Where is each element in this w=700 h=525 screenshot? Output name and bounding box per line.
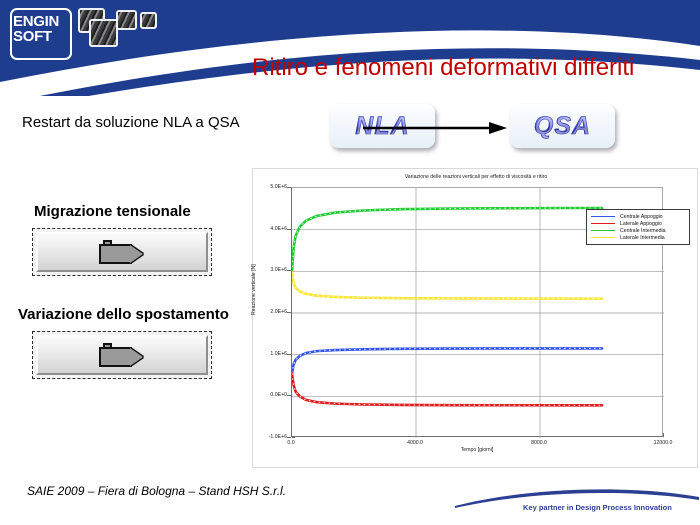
- chart-legend-item: Laterale Intermedia: [591, 234, 685, 241]
- chart-legend: Centrale AppoggioLaterale AppoggioCentra…: [586, 209, 690, 245]
- slide-canvas: ENGIN SOFT Ritiro e fenomeni deformativi…: [0, 0, 700, 525]
- chart-x-tick: 12000.0: [654, 440, 673, 446]
- restart-description: Restart da soluzione NLA a QSA: [22, 113, 242, 133]
- chart-y-tick: -1.0E+6: [253, 434, 287, 440]
- chart-legend-swatch: [591, 216, 615, 217]
- chart-title: Variazione delle reazioni verticali per …: [253, 174, 699, 180]
- movie-camera-icon: [99, 343, 145, 367]
- chart-legend-swatch: [591, 223, 615, 224]
- logo-line-1: ENGIN: [13, 14, 71, 29]
- qsa-badge: QSA: [510, 104, 615, 148]
- thumbnail-image-2: [89, 19, 118, 47]
- thumbnail-image-3: [116, 10, 137, 30]
- video-button-variazione-spostamento[interactable]: [32, 331, 212, 379]
- slide-title: Ritiro e fenomeni deformativi differiti: [252, 54, 700, 82]
- chart-legend-item: Laterale Appoggio: [591, 220, 685, 227]
- chart-y-tick: 1.0E+6: [253, 351, 287, 357]
- movie-camera-icon: [99, 240, 145, 264]
- chart-x-tick: 8000.0: [531, 440, 547, 446]
- chart-legend-label: Centrale Appoggio: [620, 214, 663, 220]
- logo-thumbnail-strip: [76, 6, 166, 58]
- caption-migrazione-tensionale: Migrazione tensionale: [34, 203, 191, 220]
- chart-y-tick: 5.0E+6: [253, 184, 287, 190]
- chart-y-tick: 0.0E+0: [253, 392, 287, 398]
- chart-legend-swatch: [591, 237, 615, 238]
- slide-header: ENGIN SOFT Ritiro e fenomeni deformativi…: [0, 0, 700, 96]
- reaction-chart: Variazione delle reazioni verticali per …: [252, 168, 698, 468]
- slide-footer: SAIE 2009 – Fiera di Bologna – Stand HSH…: [27, 484, 286, 498]
- chart-legend-label: Centrale Intermedia: [620, 228, 666, 234]
- chart-legend-label: Laterale Intermedia: [620, 235, 665, 241]
- right-arrow-icon: [359, 118, 509, 138]
- qsa-label: QSA: [534, 112, 591, 141]
- video-button-migrazione-tensionale[interactable]: [32, 228, 212, 276]
- chart-y-tick: 3.0E+6: [253, 267, 287, 273]
- chart-legend-label: Laterale Appoggio: [620, 221, 662, 227]
- chart-x-tick: 0.0: [287, 440, 294, 446]
- engineesoft-logo-text: ENGIN SOFT: [13, 14, 71, 44]
- chart-x-axis-title: Tempo [giorni]: [291, 447, 663, 453]
- chart-legend-swatch: [591, 230, 615, 231]
- chart-x-tick: 4000.0: [407, 440, 423, 446]
- logo-line-2: SOFT: [13, 29, 71, 44]
- chart-y-tick: 2.0E+6: [253, 309, 287, 315]
- chart-y-tick-mark: [287, 437, 291, 438]
- company-tagline: Key partner in Design Process Innovation: [523, 503, 672, 512]
- caption-variazione-spostamento: Variazione dello spostamento: [18, 306, 229, 323]
- chart-legend-item: Centrale Intermedia: [591, 227, 685, 234]
- chart-legend-item: Centrale Appoggio: [591, 213, 685, 220]
- thumbnail-image-4: [140, 12, 157, 29]
- chart-y-tick: 4.0E+6: [253, 226, 287, 232]
